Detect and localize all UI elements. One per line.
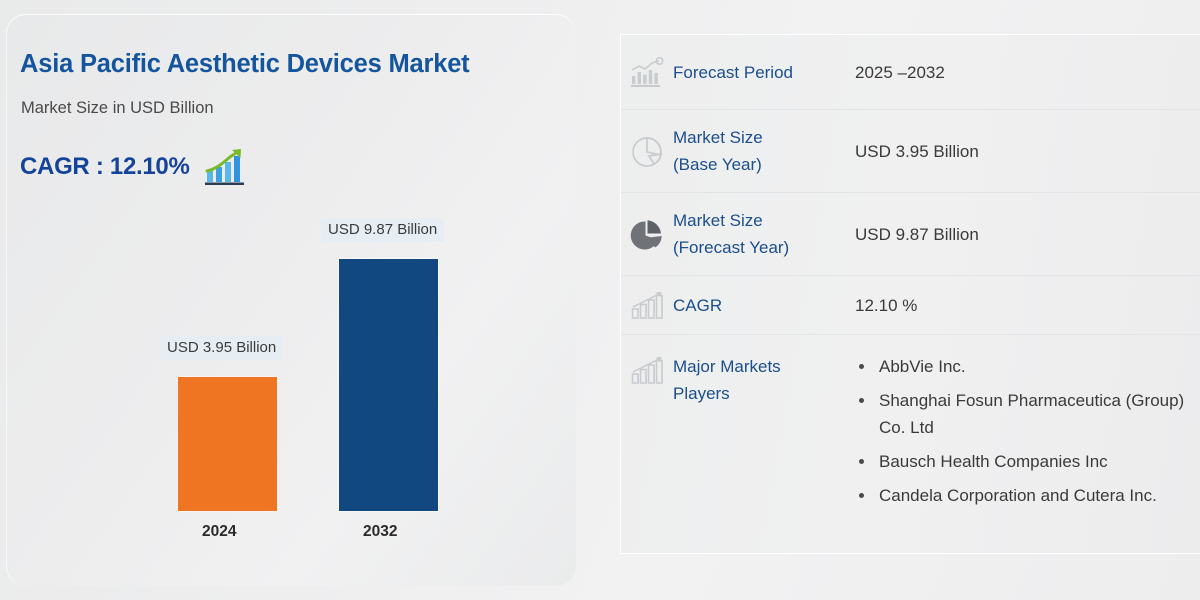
row-label-forecast-period: Forecast Period xyxy=(673,59,855,86)
row-label-line1: Market Size xyxy=(673,211,763,230)
ascending-bars-icon xyxy=(621,288,673,322)
pie-chart-filled-icon xyxy=(621,216,673,252)
bar-chart-trend-icon xyxy=(621,55,673,89)
row-label-market-size-base-year: Market Size (Base Year) xyxy=(673,124,855,178)
bar-2032 xyxy=(339,259,438,511)
bar-category-2032: 2032 xyxy=(363,523,397,541)
infographic-canvas: Asia Pacific Aesthetic Devices Market Ma… xyxy=(0,0,1200,600)
row-value-market-size-forecast-year: USD 9.87 Billion xyxy=(855,221,1200,248)
row-value-cagr: 12.10 % xyxy=(855,292,1200,319)
row-label-major-markets-players: Major Markets Players xyxy=(673,353,855,407)
list-item: AbbVie Inc. xyxy=(855,353,1200,380)
market-overview-card: Asia Pacific Aesthetic Devices Market Ma… xyxy=(6,14,576,586)
row-label-line1: Market Size xyxy=(673,128,763,147)
bar-2024 xyxy=(178,377,277,511)
row-label-line1: Major Markets xyxy=(673,357,781,376)
table-row-major-markets-players: Major Markets Players AbbVie Inc. Shangh… xyxy=(621,335,1200,523)
bar-value-label-2032: USD 9.87 Billion xyxy=(321,218,444,242)
pie-chart-outline-icon xyxy=(621,133,673,169)
row-label-cagr: CAGR xyxy=(673,292,855,319)
row-label-line2: (Base Year) xyxy=(673,155,762,174)
table-row-cagr: CAGR 12.10 % xyxy=(621,276,1200,335)
row-label-line2: (Forecast Year) xyxy=(673,238,789,257)
table-row-market-size-forecast-year: Market Size (Forecast Year) USD 9.87 Bil… xyxy=(621,193,1200,276)
row-label-line2: Players xyxy=(673,384,730,403)
table-row-forecast-period: Forecast Period 2025 –2032 xyxy=(621,35,1200,110)
list-item: Shanghai Fosun Pharmaceutica (Group) Co.… xyxy=(855,387,1200,441)
bar-value-label-2024: USD 3.95 Billion xyxy=(160,336,283,360)
row-value-major-markets-players: AbbVie Inc. Shanghai Fosun Pharmaceutica… xyxy=(855,353,1200,509)
major-players-list: AbbVie Inc. Shanghai Fosun Pharmaceutica… xyxy=(855,353,1200,509)
table-row-market-size-base-year: Market Size (Base Year) USD 3.95 Billion xyxy=(621,110,1200,193)
row-value-forecast-period: 2025 –2032 xyxy=(855,59,1200,86)
row-value-market-size-base-year: USD 3.95 Billion xyxy=(855,138,1200,165)
list-item: Candela Corporation and Cutera Inc. xyxy=(855,482,1200,509)
ascending-bars-icon xyxy=(621,353,673,387)
market-size-bar-chart: USD 9.87 Billion 2032 USD 3.95 Billion 2… xyxy=(6,14,576,586)
market-facts-panel: Forecast Period 2025 –2032 Market Size (… xyxy=(620,34,1200,554)
row-label-market-size-forecast-year: Market Size (Forecast Year) xyxy=(673,207,855,261)
list-item: Bausch Health Companies Inc xyxy=(855,448,1200,475)
bar-category-2024: 2024 xyxy=(202,523,236,541)
